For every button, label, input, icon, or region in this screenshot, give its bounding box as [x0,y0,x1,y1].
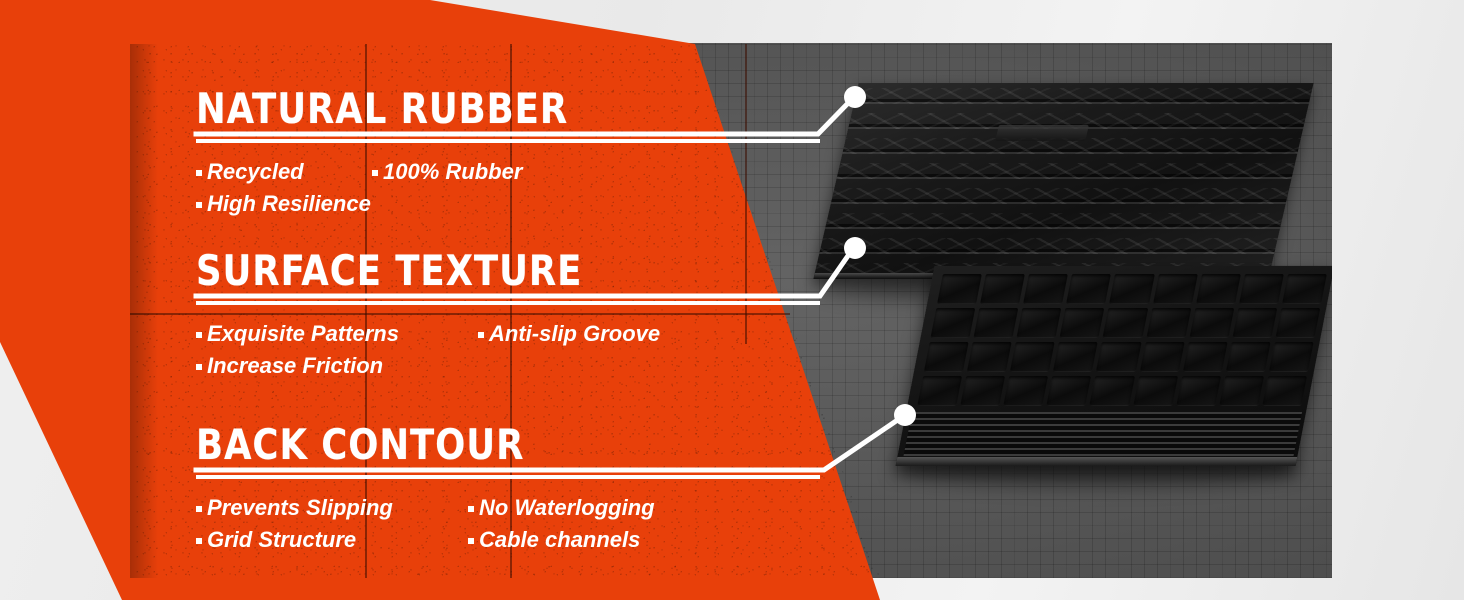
section-rule-back-contour [196,475,820,479]
infographic-stage: NATURAL RUBBER Recycled 100% Rubber High… [0,0,1464,600]
bullet-label: Increase Friction [207,350,383,382]
bullet-item: Prevents Slipping [196,492,468,524]
bullet-item: High Resilience [196,188,796,220]
bullet-dot-icon [372,170,378,176]
bullet-dot-icon [468,506,474,512]
bullet-dot-icon [468,538,474,544]
bullet-item: Grid Structure [196,524,468,556]
bullet-label: Cable channels [479,524,640,556]
bullet-dot-icon [478,332,484,338]
bullet-label: No Waterlogging [479,492,655,524]
bullet-item: Recycled [196,156,372,188]
section-title-back-contour: BACK CONTOUR [196,424,798,466]
bullet-item: 100% Rubber [372,156,672,188]
feature-section-natural-rubber: NATURAL RUBBER Recycled 100% Rubber High… [196,88,796,220]
feature-section-back-contour: BACK CONTOUR Prevents Slipping No Waterl… [196,424,836,556]
bullet-label: Grid Structure [207,524,356,556]
bullet-dot-icon [196,364,202,370]
section-rule-natural-rubber [196,139,820,143]
bullet-label: 100% Rubber [383,156,522,188]
bullet-item: No Waterlogging [468,492,748,524]
bullet-label: Exquisite Patterns [207,318,399,350]
section-title-surface-texture: SURFACE TEXTURE [196,250,798,292]
bullet-item: Exquisite Patterns [196,318,478,350]
feature-bullets-surface-texture: Exquisite Patterns Anti-slip Groove Incr… [196,318,836,382]
bullet-label: Prevents Slipping [207,492,393,524]
feature-bullets-back-contour: Prevents Slipping No Waterlogging Grid S… [196,492,836,556]
bullet-item: Cable channels [468,524,748,556]
bullet-dot-icon [196,538,202,544]
section-title-natural-rubber: NATURAL RUBBER [196,88,760,130]
bullet-label: Anti-slip Groove [489,318,660,350]
bullet-dot-icon [196,506,202,512]
bullet-label: High Resilience [207,188,371,220]
section-rule-surface-texture [196,301,820,305]
feature-section-surface-texture: SURFACE TEXTURE Exquisite Patterns Anti-… [196,250,836,382]
bullet-item: Increase Friction [196,350,836,382]
bullet-dot-icon [196,202,202,208]
bullet-label: Recycled [207,156,304,188]
feature-text-content: NATURAL RUBBER Recycled 100% Rubber High… [0,0,1464,600]
bullet-dot-icon [196,332,202,338]
bullet-dot-icon [196,170,202,176]
feature-bullets-natural-rubber: Recycled 100% Rubber High Resilience [196,156,796,220]
bullet-item: Anti-slip Groove [478,318,738,350]
